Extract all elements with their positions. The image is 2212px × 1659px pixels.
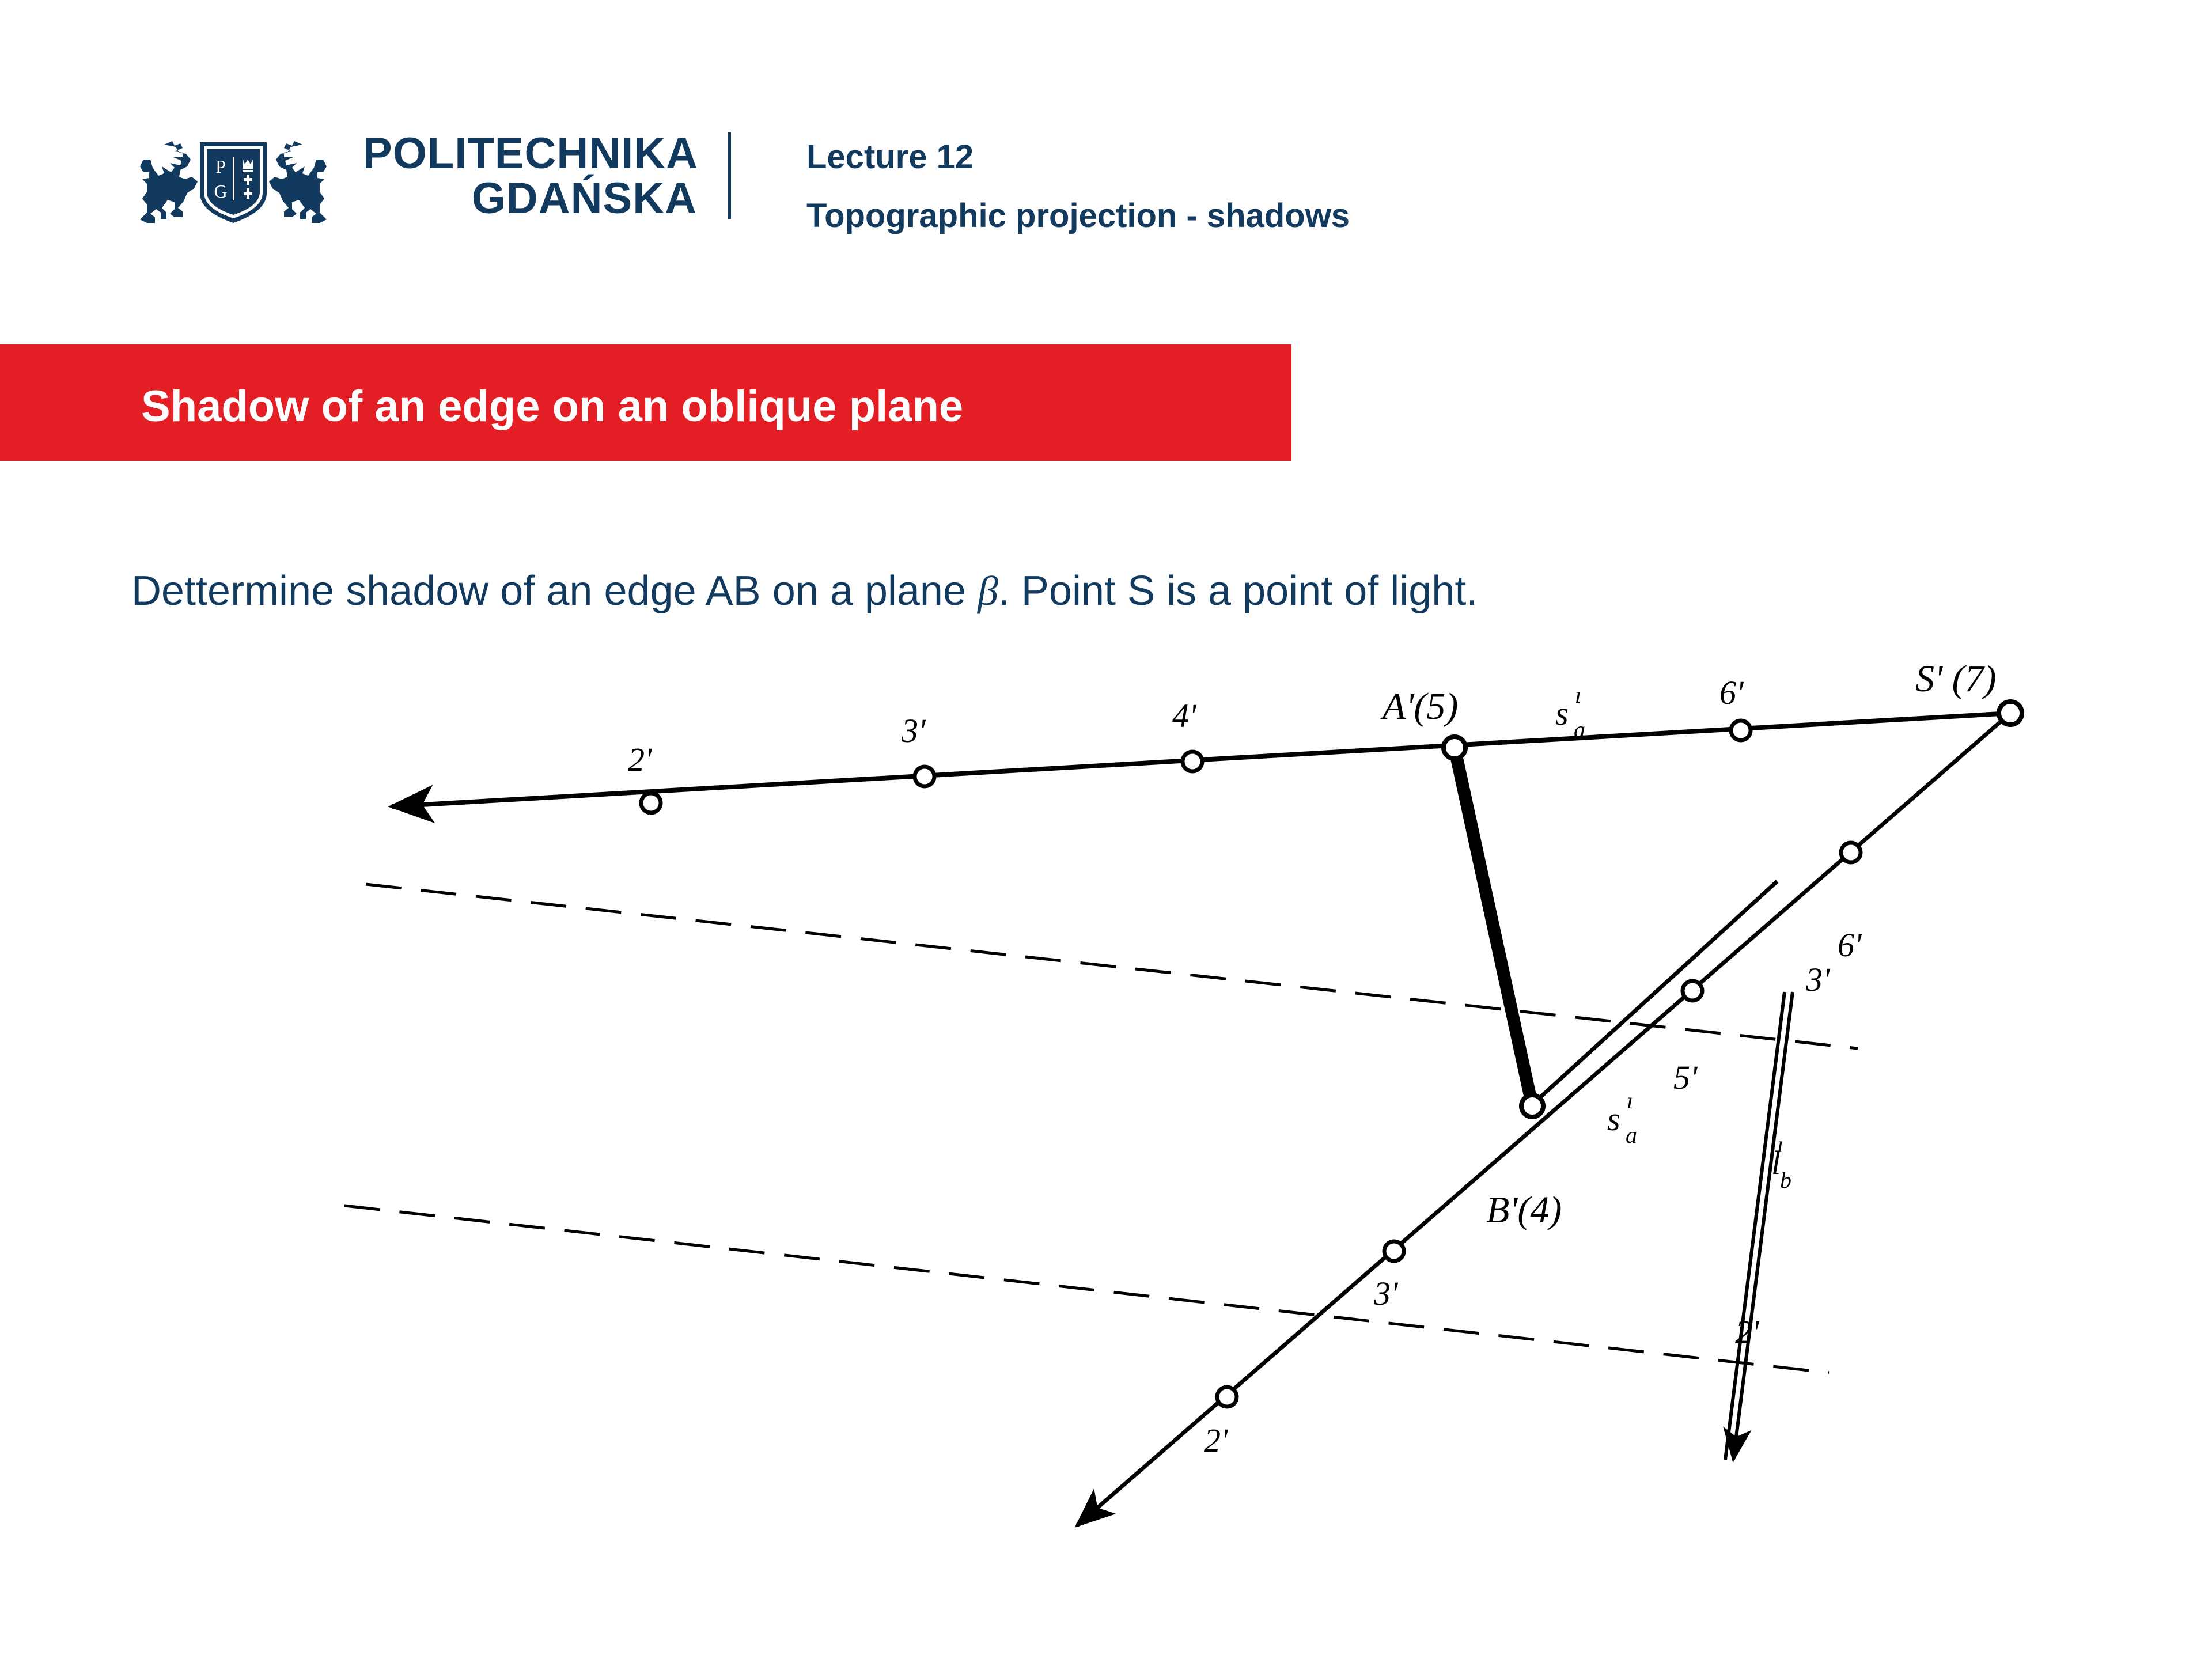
shield-letter-p: P [215,156,226,177]
wordmark-line-1: POLITECHNIKA [363,131,697,176]
crest-icon-svg: P G [130,124,337,239]
svg-text:s: s [1555,695,1569,732]
label-ray-5: 5' [1673,1059,1698,1096]
label-vert-2: 2' [1735,1313,1760,1351]
point-top-6 [1731,721,1751,740]
label-top-6: 6' [1719,674,1744,711]
shield-letter-g: G [214,181,227,202]
svg-text:ı: ı [1575,682,1581,708]
problem-statement: Dettermine shadow of an edge AB on a pla… [131,567,1478,615]
statement-part-2: . Point S is a point of light. [998,568,1478,614]
label-ray-6: 6' [1838,926,1862,964]
svg-text:s: s [1607,1100,1620,1138]
lecture-info: Lecture 12 Topographic projection - shad… [806,137,1350,236]
line-sa-lower [1529,881,1777,1107]
level-line-upper [366,884,1858,1048]
svg-text:ı: ı [1627,1088,1633,1113]
line-lb-right [1733,992,1793,1460]
line-light-ray [1077,713,2010,1525]
label-sa-top: s ı a [1555,682,1585,743]
label-S7: S' (7) [1915,658,1997,700]
wordmark-line-2: GDAŃSKA [363,176,697,221]
label-A5: A'(5) [1380,685,1458,728]
statement-beta-symbol: β [978,568,998,614]
point-ray-2 [1217,1387,1237,1407]
svg-text:b: b [1780,1167,1791,1193]
point-top-2 [641,793,661,813]
svg-text:a: a [1626,1122,1637,1148]
line-lb-left [1725,992,1785,1460]
point-ray-3 [1384,1241,1404,1261]
lecture-topic: Topographic projection - shadows [806,196,1350,236]
point-top-4 [1183,752,1202,771]
politechnika-gdanska-crest-icon: P G [130,124,337,239]
point-top-3 [915,767,934,786]
edge-AB [1455,748,1532,1106]
svg-text:a: a [1574,717,1585,743]
label-top-4: 4' [1172,697,1197,734]
label-ray-2: 2' [1204,1422,1229,1459]
point-A5 [1444,737,1465,759]
label-B4: B'(4) [1486,1189,1562,1231]
label-top-3: 3' [901,712,926,749]
point-ray-6 [1841,843,1861,862]
topographic-projection-diagram: 2' 3' 4' A'(5) s ı a 6' S' (7) 6' 5' s ı… [0,634,2212,1613]
statement-part-1: Dettermine shadow of an edge AB on a pla… [131,568,978,614]
svg-text:ı: ı [1777,1131,1783,1157]
slide-header: P G POLITECHNIKA GDAŃSKA Lecture 12 Topo… [0,0,2212,276]
page-title: Shadow of an edge on an oblique plane [141,381,963,431]
point-B4 [1521,1095,1543,1117]
level-line-lower [344,1206,1829,1373]
wordmark: POLITECHNIKA GDAŃSKA [363,131,697,221]
point-S7 [1999,702,2022,725]
point-ray-5 [1683,981,1702,1001]
label-top-2: 2' [628,741,653,778]
header-divider [728,132,731,219]
label-vert-3: 3' [1805,961,1831,998]
label-sa-mid: s ı a [1607,1088,1637,1148]
lecture-number: Lecture 12 [806,137,1350,177]
label-ray-3: 3' [1373,1275,1399,1312]
diagram-svg: 2' 3' 4' A'(5) s ı a 6' S' (7) 6' 5' s ı… [0,634,2212,1613]
